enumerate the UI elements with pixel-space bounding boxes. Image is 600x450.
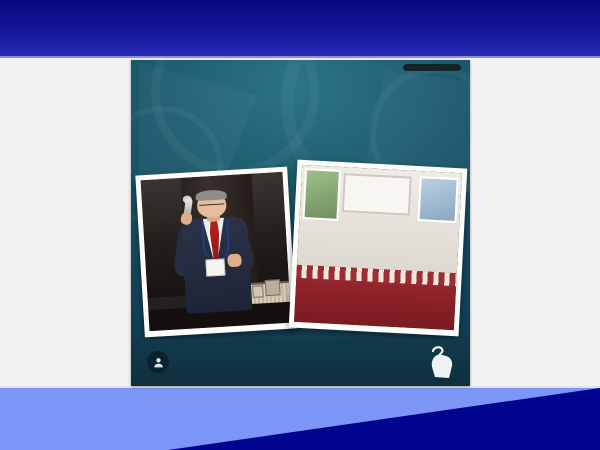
top-decorative-band — [0, 0, 600, 56]
speaker-photo-image — [141, 172, 292, 331]
slide-canvas — [0, 0, 600, 450]
group-photo[interactable] — [289, 160, 468, 337]
speaker-photo[interactable] — [135, 167, 296, 338]
social-post-card — [131, 60, 470, 386]
image-counter-badge — [403, 64, 461, 71]
post-footer — [131, 339, 470, 386]
hand-tap-icon — [424, 344, 458, 382]
bottom-wedge-shape — [0, 388, 600, 450]
top-band-hairline — [0, 56, 600, 58]
person-icon — [147, 351, 169, 373]
bottom-decorative-band — [0, 388, 600, 450]
bottom-band-hairline — [0, 386, 600, 388]
group-photo-image — [294, 165, 462, 330]
